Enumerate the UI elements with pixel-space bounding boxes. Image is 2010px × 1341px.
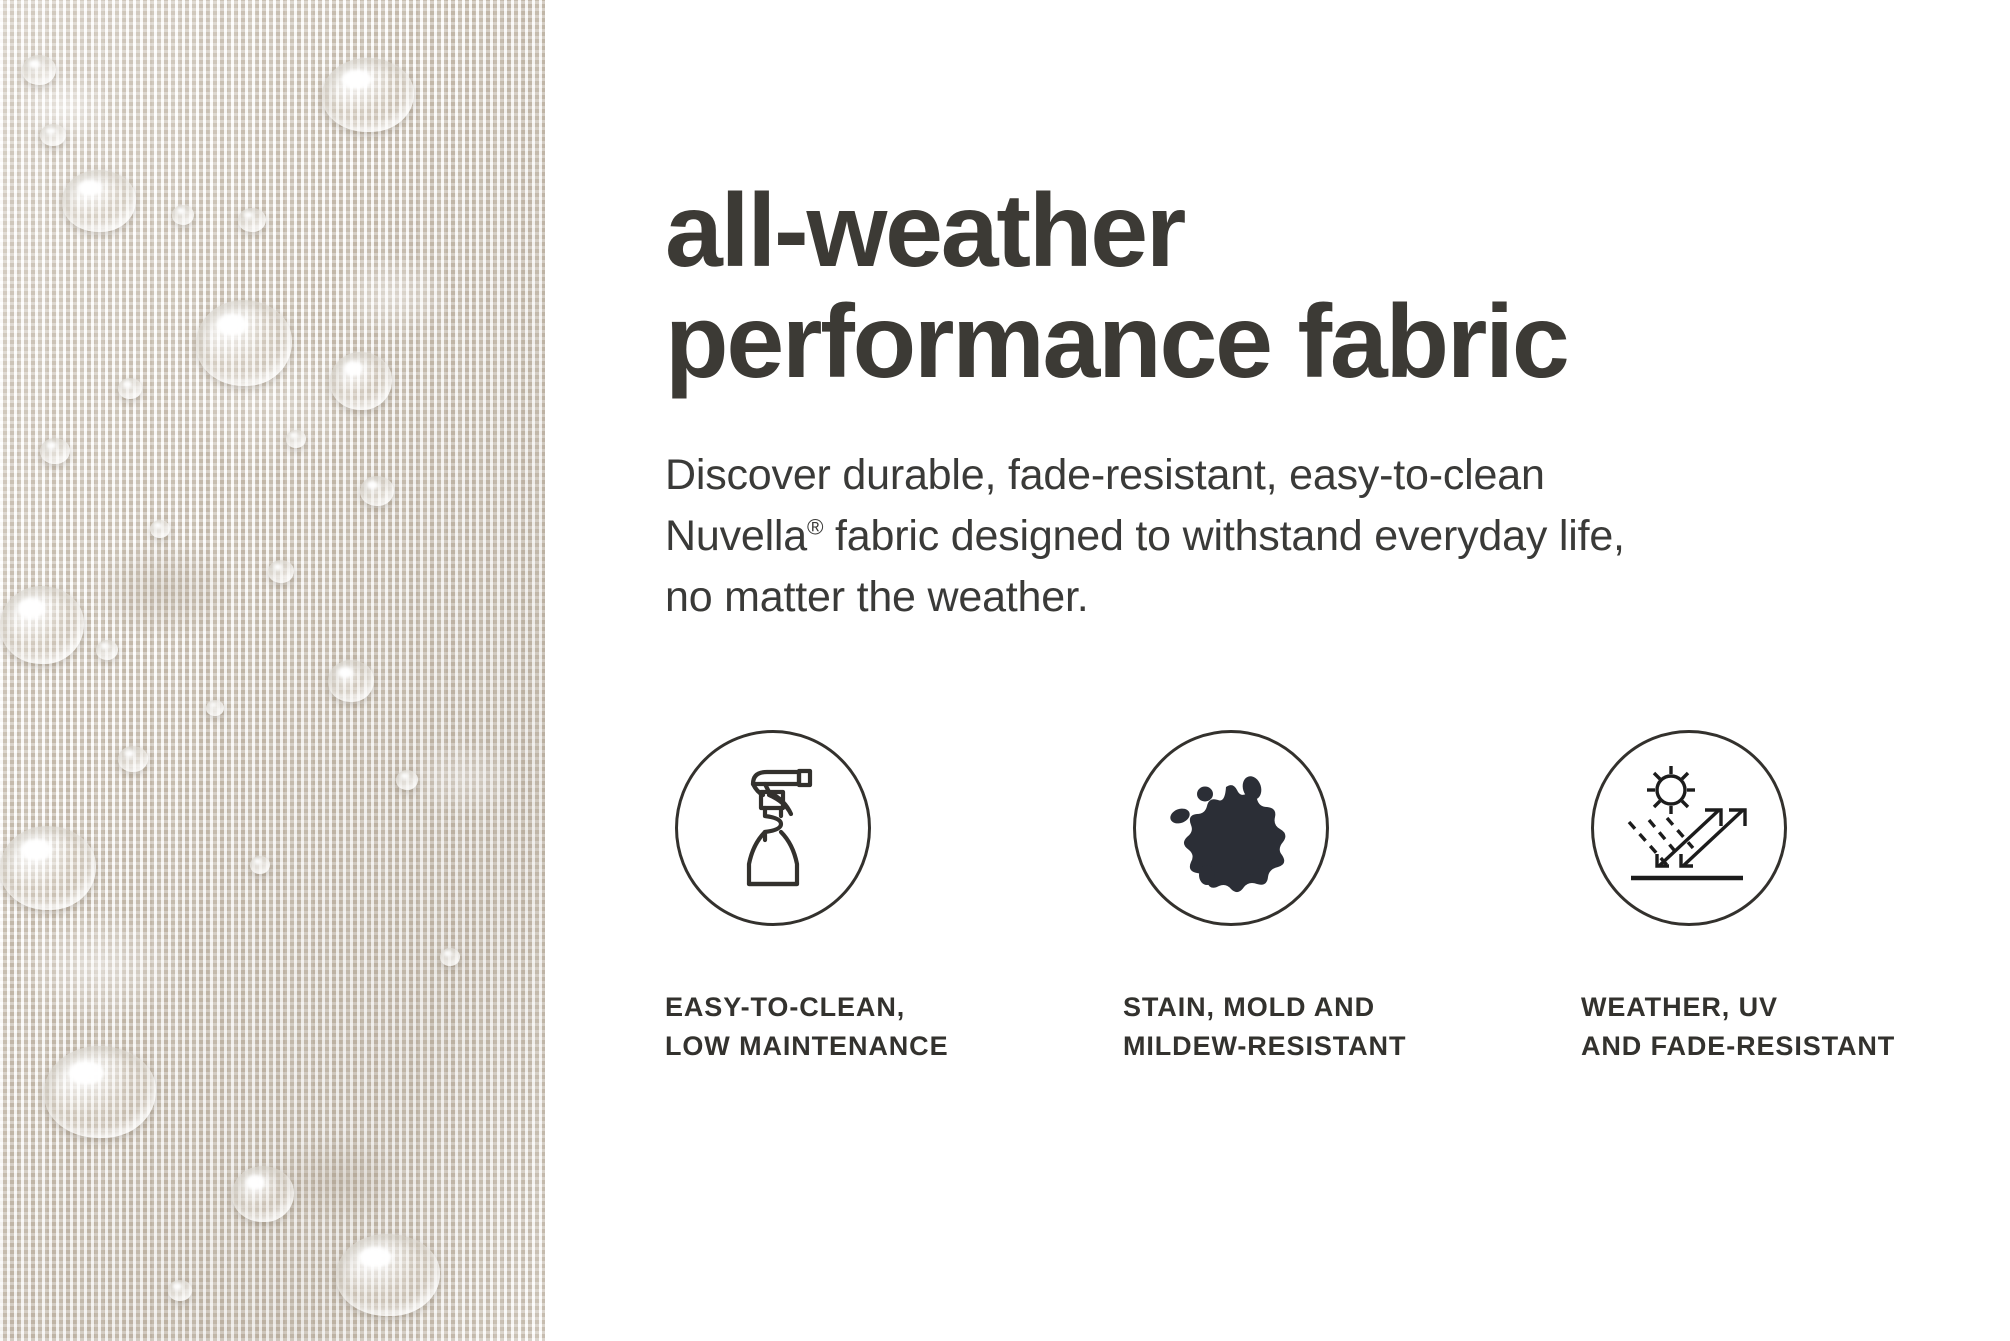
brand-name-nuvella: Nuvella	[665, 512, 807, 560]
fabric-photo	[0, 0, 545, 1341]
feature-label: STAIN, MOLD AND MILDEW-RESISTANT	[1123, 926, 1581, 1067]
water-droplet	[118, 746, 148, 772]
water-droplet	[322, 58, 414, 132]
sun-uv-fade-icon	[1623, 764, 1755, 892]
registered-trademark-icon: ®	[807, 514, 823, 539]
feature-list: EASY-TO-CLEAN, LOW MAINTENANCE	[665, 628, 2010, 1067]
water-droplet	[286, 430, 306, 448]
feature-label: WEATHER, UV AND FADE-RESISTANT	[1581, 926, 2010, 1067]
feature-label-line-2: MILDEW-RESISTANT	[1123, 1027, 1581, 1066]
water-droplet	[328, 660, 374, 702]
headline-line-1: all-weather	[665, 176, 1955, 287]
content-panel: all-weather performance fabric Discover …	[545, 0, 2010, 1341]
water-droplet	[22, 55, 56, 85]
water-droplet	[238, 208, 266, 232]
water-droplet	[172, 205, 194, 225]
water-droplet	[250, 856, 270, 874]
water-droplet	[96, 640, 118, 660]
subcopy-line-3: no matter the weather.	[665, 573, 1088, 621]
water-droplet	[168, 1280, 192, 1301]
feature-label-line-1: STAIN, MOLD AND	[1123, 988, 1581, 1027]
water-droplet	[40, 438, 70, 464]
subcopy-line-1: Discover durable, fade-resistant, easy-t…	[665, 451, 1545, 499]
water-droplet	[396, 770, 418, 790]
water-droplet	[0, 586, 84, 664]
stain-splatter-icon	[1166, 763, 1296, 893]
water-droplet	[360, 476, 394, 506]
water-droplet	[330, 352, 392, 410]
water-droplet	[62, 170, 136, 232]
water-droplet	[0, 826, 96, 910]
water-droplet	[150, 520, 170, 538]
water-droplet	[206, 700, 224, 716]
icon-ring	[675, 730, 871, 926]
water-droplet	[336, 1234, 440, 1316]
water-droplet	[44, 1046, 156, 1138]
subcopy-line-2: fabric designed to withstand everyday li…	[823, 512, 1624, 560]
all-weather-fabric-banner: all-weather performance fabric Discover …	[0, 0, 2010, 1341]
headline-line-2: performance fabric	[665, 287, 1955, 398]
feature-weather-uv-fade: WEATHER, UV AND FADE-RESISTANT	[1581, 730, 2010, 1067]
water-droplet	[118, 378, 142, 399]
feature-stain-mold-mildew: STAIN, MOLD AND MILDEW-RESISTANT	[1123, 730, 1581, 1067]
icon-ring	[1133, 730, 1329, 926]
feature-label-line-2: LOW MAINTENANCE	[665, 1027, 1123, 1066]
water-droplet	[440, 948, 460, 966]
feature-label-line-1: WEATHER, UV	[1581, 988, 2010, 1027]
spray-bottle-icon	[713, 758, 833, 898]
feature-label-line-1: EASY-TO-CLEAN,	[665, 988, 1123, 1027]
feature-easy-to-clean: EASY-TO-CLEAN, LOW MAINTENANCE	[665, 730, 1123, 1067]
water-droplet	[232, 1166, 294, 1222]
subcopy-paragraph: Discover durable, fade-resistant, easy-t…	[665, 399, 1895, 628]
page-title: all-weather performance fabric	[665, 0, 1955, 399]
feature-label: EASY-TO-CLEAN, LOW MAINTENANCE	[665, 926, 1123, 1067]
feature-label-line-2: AND FADE-RESISTANT	[1581, 1027, 2010, 1066]
water-droplet	[40, 124, 66, 146]
water-droplet	[268, 560, 294, 583]
water-droplet	[196, 300, 292, 386]
icon-ring	[1591, 730, 1787, 926]
